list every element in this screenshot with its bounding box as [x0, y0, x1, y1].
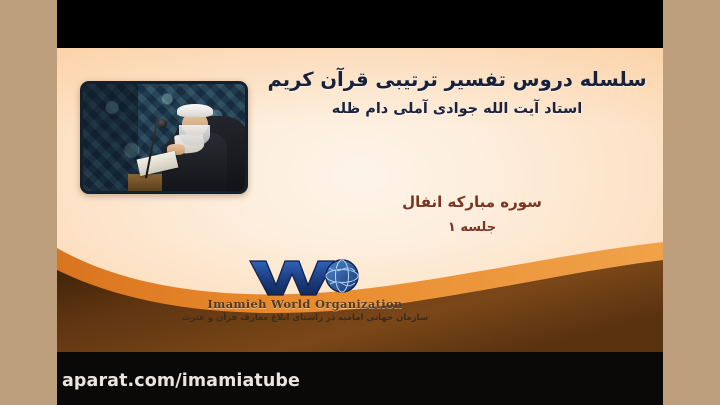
video-frame: سلسله دروس تفسیر ترتیبی قرآن کریم استاد …	[0, 0, 720, 405]
surah-label: سوره مبارکه انفال	[307, 193, 637, 211]
pillarbox-left	[0, 0, 57, 405]
wo-globe-icon	[230, 255, 380, 299]
session-label: جلسه ۱	[307, 220, 637, 235]
page-subtitle: استاد آیت الله جوادی آملی دام ظله	[267, 101, 647, 117]
title-slide: سلسله دروس تفسیر ترتیبی قرآن کریم استاد …	[57, 48, 663, 352]
organization-subtitle: سازمان جهانی امامیه در راستای ابلاغ معار…	[175, 313, 435, 323]
organization-logo: Imamieh World Organization سازمان جهانی …	[175, 255, 435, 323]
speaker-photo	[80, 81, 248, 194]
cleric-turban	[177, 104, 213, 117]
channel-url: aparat.com/imamiatube	[62, 371, 300, 391]
organization-name: Imamieh World Organization	[175, 297, 435, 311]
microphone-icon	[158, 119, 167, 128]
page-title: سلسله دروس تفسیر ترتیبی قرآن کریم	[267, 68, 647, 91]
letterbox-top	[57, 0, 663, 48]
speaker-photo-inner	[83, 84, 245, 191]
pillarbox-right	[663, 0, 720, 405]
